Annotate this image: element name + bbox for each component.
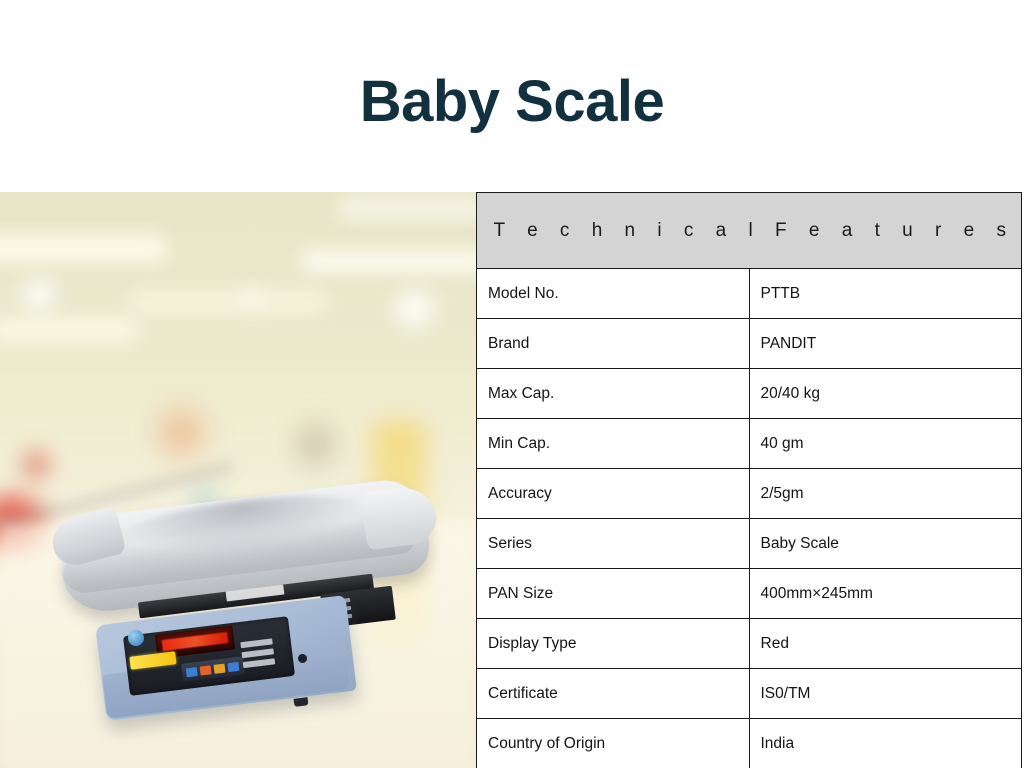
spec-value: IS0/TM (749, 669, 1022, 719)
baby-scale-device (46, 484, 446, 724)
table-row: Display Type Red (477, 619, 1022, 669)
table-header-row: T e c h n i c a l F e a t u r e s (477, 193, 1022, 269)
ceiling-light-bokeh (338, 200, 476, 218)
red-bokeh (14, 442, 58, 488)
spec-value: 20/40 kg (749, 369, 1022, 419)
table-row: Country of Origin India (477, 719, 1022, 768)
spec-value: 40 gm (749, 419, 1022, 469)
round-bokeh (240, 288, 266, 310)
spec-value: Baby Scale (749, 519, 1022, 569)
technical-features-panel: T e c h n i c a l F e a t u r e s Model … (476, 192, 1024, 768)
spec-key: Brand (477, 319, 750, 369)
spec-value: 2/5gm (749, 469, 1022, 519)
technical-features-table: T e c h n i c a l F e a t u r e s Model … (476, 192, 1022, 768)
keypad-key (227, 662, 239, 672)
table-row: Brand PANDIT (477, 319, 1022, 369)
ceiling-light-bokeh (128, 290, 328, 314)
spec-key: Display Type (477, 619, 750, 669)
ceiling-light-bokeh (300, 250, 476, 272)
table-header-title: T e c h n i c a l F e a t u r e s (477, 193, 1022, 269)
orange-bokeh (146, 398, 216, 468)
round-bokeh (395, 292, 435, 326)
spec-value: Red (749, 619, 1022, 669)
function-button (243, 658, 275, 668)
spec-key: Certificate (477, 669, 750, 719)
spec-key: Max Cap. (477, 369, 750, 419)
spec-key: Series (477, 519, 750, 569)
spec-value: PANDIT (749, 319, 1022, 369)
keypad-key (200, 665, 212, 675)
round-bokeh (22, 280, 56, 310)
table-row: Accuracy 2/5gm (477, 469, 1022, 519)
keypad-key (214, 664, 226, 674)
keypad-key (186, 667, 198, 677)
table-row: Model No. PTTB (477, 269, 1022, 319)
table-row: Series Baby Scale (477, 519, 1022, 569)
function-buttons (240, 638, 279, 672)
spec-key: Accuracy (477, 469, 750, 519)
table-row: PAN Size 400mm×245mm (477, 569, 1022, 619)
spec-key: Min Cap. (477, 419, 750, 469)
content-area: T e c h n i c a l F e a t u r e s Model … (0, 192, 1024, 768)
spec-key: Model No. (477, 269, 750, 319)
spec-key: Country of Origin (477, 719, 750, 768)
table-row: Min Cap. 40 gm (477, 419, 1022, 469)
spec-value: PTTB (749, 269, 1022, 319)
title-band: Baby Scale (0, 0, 1024, 192)
product-image (0, 192, 476, 768)
table-row: Certificate IS0/TM (477, 669, 1022, 719)
dark-bokeh (292, 410, 338, 480)
ceiling-light-bokeh (0, 236, 168, 262)
product-spec-page: Baby Scale (0, 0, 1024, 768)
spec-key: PAN Size (477, 569, 750, 619)
page-title: Baby Scale (360, 73, 665, 131)
function-button (242, 648, 274, 658)
spec-value: India (749, 719, 1022, 768)
table-row: Max Cap. 20/40 kg (477, 369, 1022, 419)
ceiling-light-bokeh (0, 318, 140, 342)
spec-value: 400mm×245mm (749, 569, 1022, 619)
scale-foot (294, 697, 309, 707)
